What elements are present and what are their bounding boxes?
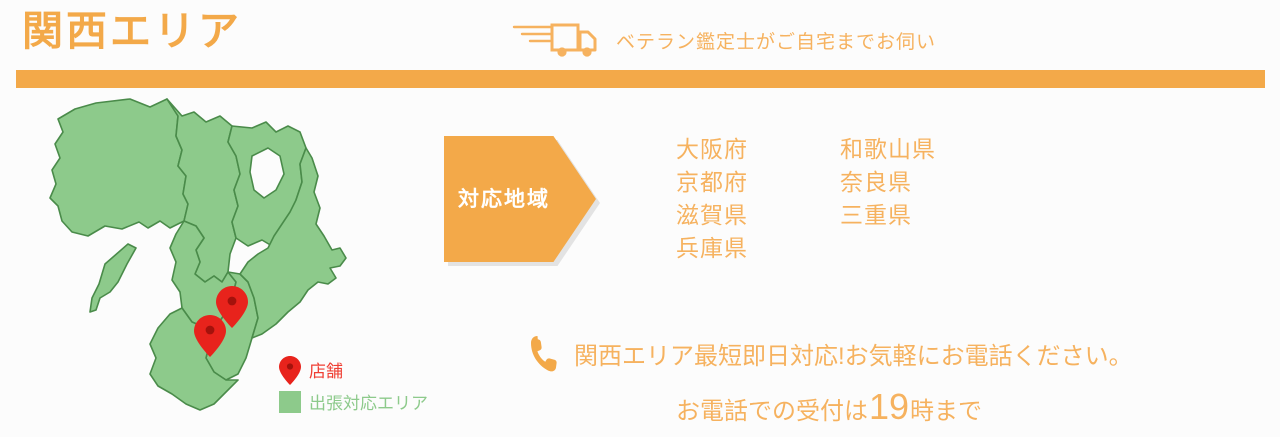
prefecture-column-1: 大阪府 京都府 滋賀県 兵庫県 xyxy=(676,133,748,265)
phone-handset-icon xyxy=(528,334,558,379)
legend-area-row: 出張対応エリア xyxy=(279,391,428,413)
prefecture-item: 兵庫県 xyxy=(676,232,748,265)
area-badge-label: 対応地域 xyxy=(444,189,550,210)
kansai-map: 店舗 出張対応エリア xyxy=(0,86,440,437)
phone-hours-number: 19 xyxy=(868,389,910,425)
prefecture-item: 京都府 xyxy=(676,166,748,199)
area-badge: 対応地域 xyxy=(444,136,596,262)
map-legend: 店舗 出張対応エリア xyxy=(279,356,428,413)
page-title: 関西エリア xyxy=(22,6,242,57)
prefecture-hyogo xyxy=(50,99,188,236)
prefecture-item: 滋賀県 xyxy=(676,199,748,232)
phone-hours-line: お電話での受付は 19 時まで xyxy=(676,389,982,425)
legend-area-label: 出張対応エリア xyxy=(309,394,428,413)
header-tagline-text: ベテラン鑑定士がご自宅までお伺い xyxy=(616,33,936,52)
kansai-map-svg: 店舗 出張対応エリア xyxy=(0,86,440,437)
phone-hours-suffix: 時まで xyxy=(910,400,982,424)
awaji-island xyxy=(90,244,136,312)
prefecture-item: 三重県 xyxy=(840,199,936,232)
phone-promo-line: 関西エリア最短即日対応!お気軽にお電話ください。 xyxy=(528,334,1133,379)
green-square-swatch xyxy=(279,391,301,413)
map-pin-icon xyxy=(279,356,301,385)
legend-shop-row: 店舗 xyxy=(279,356,343,385)
legend-shop-label: 店舗 xyxy=(309,362,343,381)
kansai-area-panel: 関西エリア ベテラン鑑定士がご自宅までお伺い xyxy=(0,0,1280,437)
prefecture-column-2: 和歌山県 奈良県 三重県 xyxy=(840,133,936,265)
prefecture-item: 大阪府 xyxy=(676,133,748,166)
phone-promo-text: 関西エリア最短即日対応!お気軽にお電話ください。 xyxy=(574,345,1133,369)
prefecture-item: 奈良県 xyxy=(840,166,936,199)
delivery-truck-icon xyxy=(512,20,602,65)
phone-hours-prefix: お電話での受付は xyxy=(676,400,868,424)
header-tagline: ベテラン鑑定士がご自宅までお伺い xyxy=(512,20,936,65)
prefecture-list: 大阪府 京都府 滋賀県 兵庫県 和歌山県 奈良県 三重県 xyxy=(676,133,936,265)
prefecture-item: 和歌山県 xyxy=(840,133,936,166)
